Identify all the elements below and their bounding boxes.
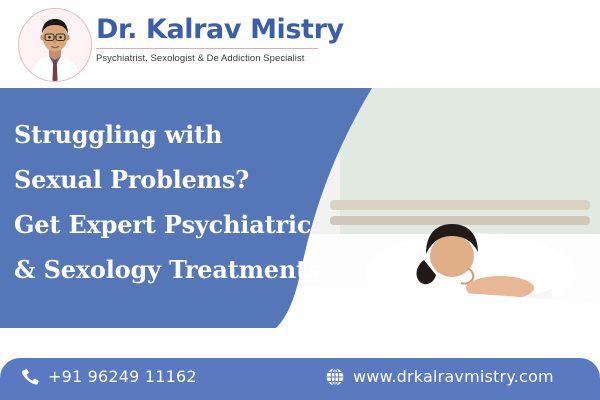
phone-contact[interactable]: +91 96249 11162 [20,367,197,387]
brand-tagline: Psychiatrist, Sexologist & De Addiction … [96,53,346,65]
spacer-strip [0,328,600,360]
brand-divider [96,48,318,49]
advertisement-banner: Dr. Kalrav Mistry Psychiatrist, Sexologi… [0,0,600,400]
hero-section: Struggling with Sexual Problems? Get Exp… [0,88,600,328]
phone-number: +91 96249 11162 [48,367,197,387]
contact-footer-bar: +91 96249 11162 www.drkalravmistry.com [0,358,600,400]
brand-header: Dr. Kalrav Mistry Psychiatrist, Sexologi… [0,0,600,88]
brand-lockup: Dr. Kalrav Mistry Psychiatrist, Sexologi… [96,14,346,65]
headline-line-3: Get Expert Psychiatric [14,202,314,247]
page-title: Dr. Kalrav Mistry [96,14,346,45]
headline-line-4: & Sexology Treatments [14,247,314,292]
headline-block: Struggling with Sexual Problems? Get Exp… [14,112,314,292]
website-url: www.drkalravmistry.com [353,367,554,387]
globe-icon [325,367,345,387]
doctor-portrait-photo [18,8,92,82]
phone-icon [20,367,40,387]
headline-line-1: Struggling with [14,112,314,157]
headline-line-2: Sexual Problems? [14,157,314,202]
website-contact[interactable]: www.drkalravmistry.com [325,367,554,387]
